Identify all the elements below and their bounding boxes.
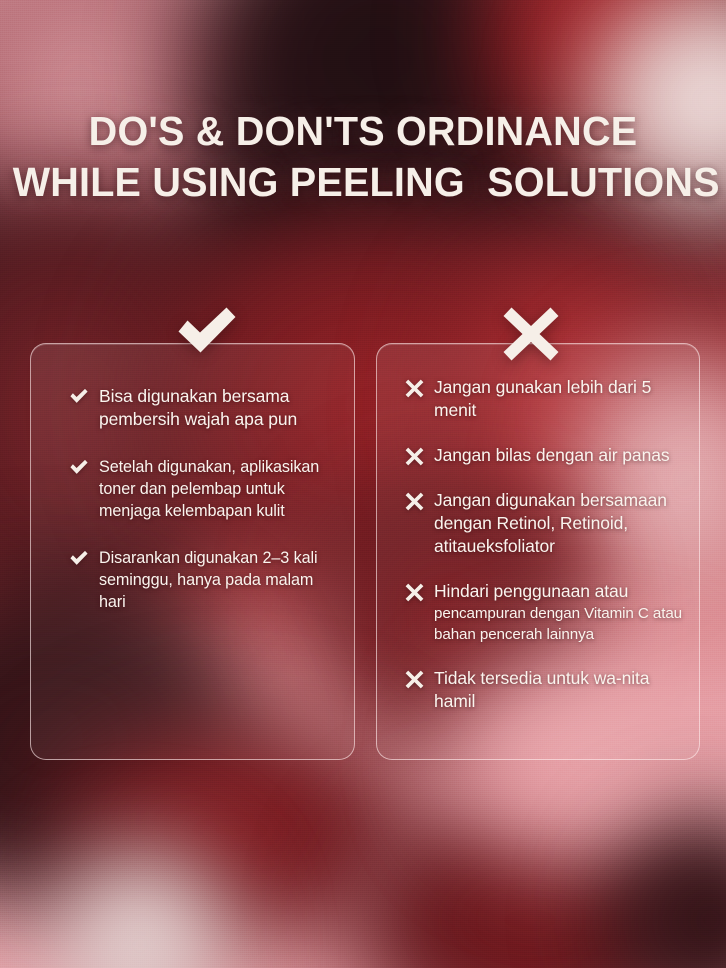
list-item: Disarankan digunakan 2–3 kali seminggu, … (69, 547, 340, 613)
dont-list: Jangan gunakan lebih dari 5 menit Jangan… (405, 376, 691, 735)
list-item-text: Jangan gunakan lebih dari 5 menit (434, 376, 691, 422)
list-item-text: Disarankan digunakan 2–3 kali seminggu, … (99, 547, 340, 613)
list-item-text: Jangan digunakan bersamaan dengan Retino… (434, 489, 691, 558)
page-title-line-2: WHILE USING PEELING SOLUTIONS (13, 157, 714, 208)
list-item: Jangan bilas dengan air panas (405, 444, 691, 467)
cross-icon (502, 306, 560, 362)
check-icon (176, 306, 238, 358)
list-item: Bisa digunakan bersama pembersih wajah a… (69, 385, 340, 431)
list-item-text: Setelah digunakan, aplikasikan toner dan… (99, 456, 340, 522)
cross-icon (405, 670, 424, 689)
list-item-text: Tidak tersedia untuk wa-nita hamil (434, 667, 691, 713)
list-item: Setelah digunakan, aplikasikan toner dan… (69, 456, 340, 522)
poster-canvas: DO'S & DON'TS ORDINANCE WHILE USING PEEL… (0, 0, 726, 968)
list-item-text: Bisa digunakan bersama pembersih wajah a… (99, 385, 340, 431)
page-title-line-1: DO'S & DON'TS ORDINANCE (13, 106, 714, 157)
do-list: Bisa digunakan bersama pembersih wajah a… (69, 385, 340, 638)
list-item: Jangan gunakan lebih dari 5 menit (405, 376, 691, 422)
check-icon (69, 388, 89, 405)
cross-icon (405, 583, 424, 602)
list-item-text: Jangan bilas dengan air panas (434, 444, 669, 467)
check-icon (69, 550, 89, 567)
cross-icon (405, 492, 424, 511)
list-item: Tidak tersedia untuk wa-nita hamil (405, 667, 691, 713)
dont-card: Jangan gunakan lebih dari 5 menit Jangan… (376, 343, 700, 760)
cross-icon (405, 379, 424, 398)
do-card: Bisa digunakan bersama pembersih wajah a… (30, 343, 355, 760)
list-item: Hindari penggunaan atau pencampuran deng… (405, 580, 691, 645)
list-item-text-main: Hindari penggunaan atau (434, 581, 628, 601)
list-item: Jangan digunakan bersamaan dengan Retino… (405, 489, 691, 558)
list-item-text: Hindari penggunaan atau pencampuran deng… (434, 580, 691, 645)
cross-icon (405, 447, 424, 466)
page-title: DO'S & DON'TS ORDINANCE WHILE USING PEEL… (13, 106, 714, 208)
check-icon (69, 459, 89, 476)
list-item-text-sub: pencampuran dengan Vitamin C atau bahan … (434, 603, 691, 645)
